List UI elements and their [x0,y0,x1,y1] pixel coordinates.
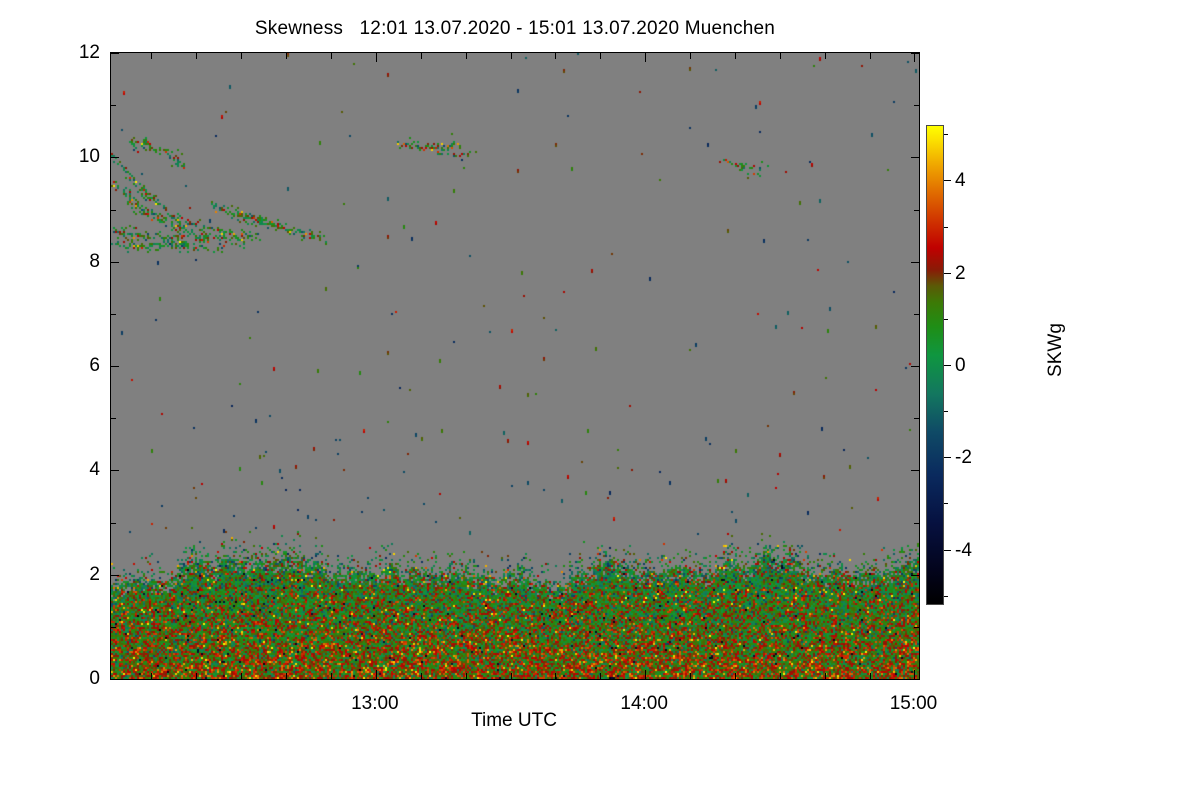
colorbar-tick-minor [944,134,948,135]
x-tick-minor-top [196,53,197,59]
y-tick-label: 2 [10,565,100,584]
x-tick-minor-top [600,53,601,59]
colorbar-tick-label: 4 [955,171,966,190]
x-tick-minor [466,673,467,679]
y-tick-major-right [911,262,920,263]
y-tick-major-right [911,53,920,54]
colorbar-tick-minor [944,411,948,412]
x-tick-minor [555,673,556,679]
plot-area [110,52,920,680]
x-tick-minor-top [331,53,332,59]
y-tick-label: 10 [10,147,100,166]
y-tick-label: 4 [10,460,100,479]
x-tick-minor-top [780,53,781,59]
x-tick-minor [331,673,332,679]
y-tick-major [110,157,119,158]
colorbar-tick-label: -2 [955,448,972,467]
y-tick-label: 0 [10,669,100,688]
y-tick-major [110,53,119,54]
y-tick-minor [110,105,116,106]
y-tick-minor [110,314,116,315]
y-tick-label: 12 [10,43,100,62]
x-tick-minor [600,673,601,679]
y-tick-minor-right [914,105,920,106]
x-tick-minor-top [825,53,826,59]
x-axis-title: Time UTC [110,710,918,732]
x-tick-minor [286,673,287,679]
y-tick-major [110,575,119,576]
y-tick-major-right [911,470,920,471]
x-tick-minor-top [555,53,556,59]
x-tick-minor [511,673,512,679]
x-tick-minor-top [735,53,736,59]
x-tick-minor [825,673,826,679]
y-tick-minor [110,627,116,628]
colorbar: 420-2-4 [926,125,944,605]
x-tick-minor-top [241,53,242,59]
x-tick-minor-top [421,53,422,59]
y-tick-label: 6 [10,356,100,375]
y-tick-major-right [911,679,920,680]
colorbar-tick-minor [944,319,948,320]
x-tick-major [914,670,915,679]
colorbar-tick-major [944,273,951,274]
colorbar-tick-label: 2 [955,264,966,283]
y-tick-label: 8 [10,252,100,271]
heatmap-canvas [111,53,919,679]
colorbar-tick-major [944,180,951,181]
x-tick-minor [421,673,422,679]
x-tick-minor [241,673,242,679]
x-tick-major-top [376,53,377,62]
x-tick-major-top [645,53,646,62]
colorbar-tick-minor [944,227,948,228]
y-tick-minor [110,523,116,524]
colorbar-tick-major [944,365,951,366]
colorbar-tick-label: -4 [955,541,972,560]
page-title: Skewness 12:01 13.07.2020 - 15:01 13.07.… [0,18,1030,40]
colorbar-tick-major [944,457,951,458]
x-tick-major-top [914,53,915,62]
x-tick-minor-top [286,53,287,59]
x-tick-minor-top [151,53,152,59]
x-tick-minor [690,673,691,679]
y-tick-minor-right [914,210,920,211]
y-tick-minor-right [914,523,920,524]
x-tick-minor-top [870,53,871,59]
x-tick-minor [151,673,152,679]
y-tick-minor-right [914,314,920,315]
y-tick-minor-right [914,418,920,419]
y-tick-minor-right [914,627,920,628]
x-tick-minor [870,673,871,679]
x-tick-major [645,670,646,679]
colorbar-tick-major [944,550,951,551]
x-tick-minor [196,673,197,679]
x-tick-minor [735,673,736,679]
y-tick-major-right [911,575,920,576]
colorbar-tick-label: 0 [955,356,966,375]
colorbar-label: SKWg [1045,270,1067,430]
y-tick-minor [110,210,116,211]
y-tick-major [110,262,119,263]
x-tick-minor-top [690,53,691,59]
y-tick-major-right [911,366,920,367]
x-tick-major [376,670,377,679]
x-tick-minor [780,673,781,679]
y-tick-major [110,366,119,367]
colorbar-tick-minor [944,503,948,504]
y-tick-major-right [911,157,920,158]
x-tick-minor-top [466,53,467,59]
skewness-heatmap-figure: Skewness 12:01 13.07.2020 - 15:01 13.07.… [0,0,1200,800]
y-tick-major [110,470,119,471]
colorbar-gradient [926,125,944,605]
colorbar-tick-minor [944,596,948,597]
y-tick-major [110,679,119,680]
x-tick-minor-top [511,53,512,59]
y-tick-minor [110,418,116,419]
